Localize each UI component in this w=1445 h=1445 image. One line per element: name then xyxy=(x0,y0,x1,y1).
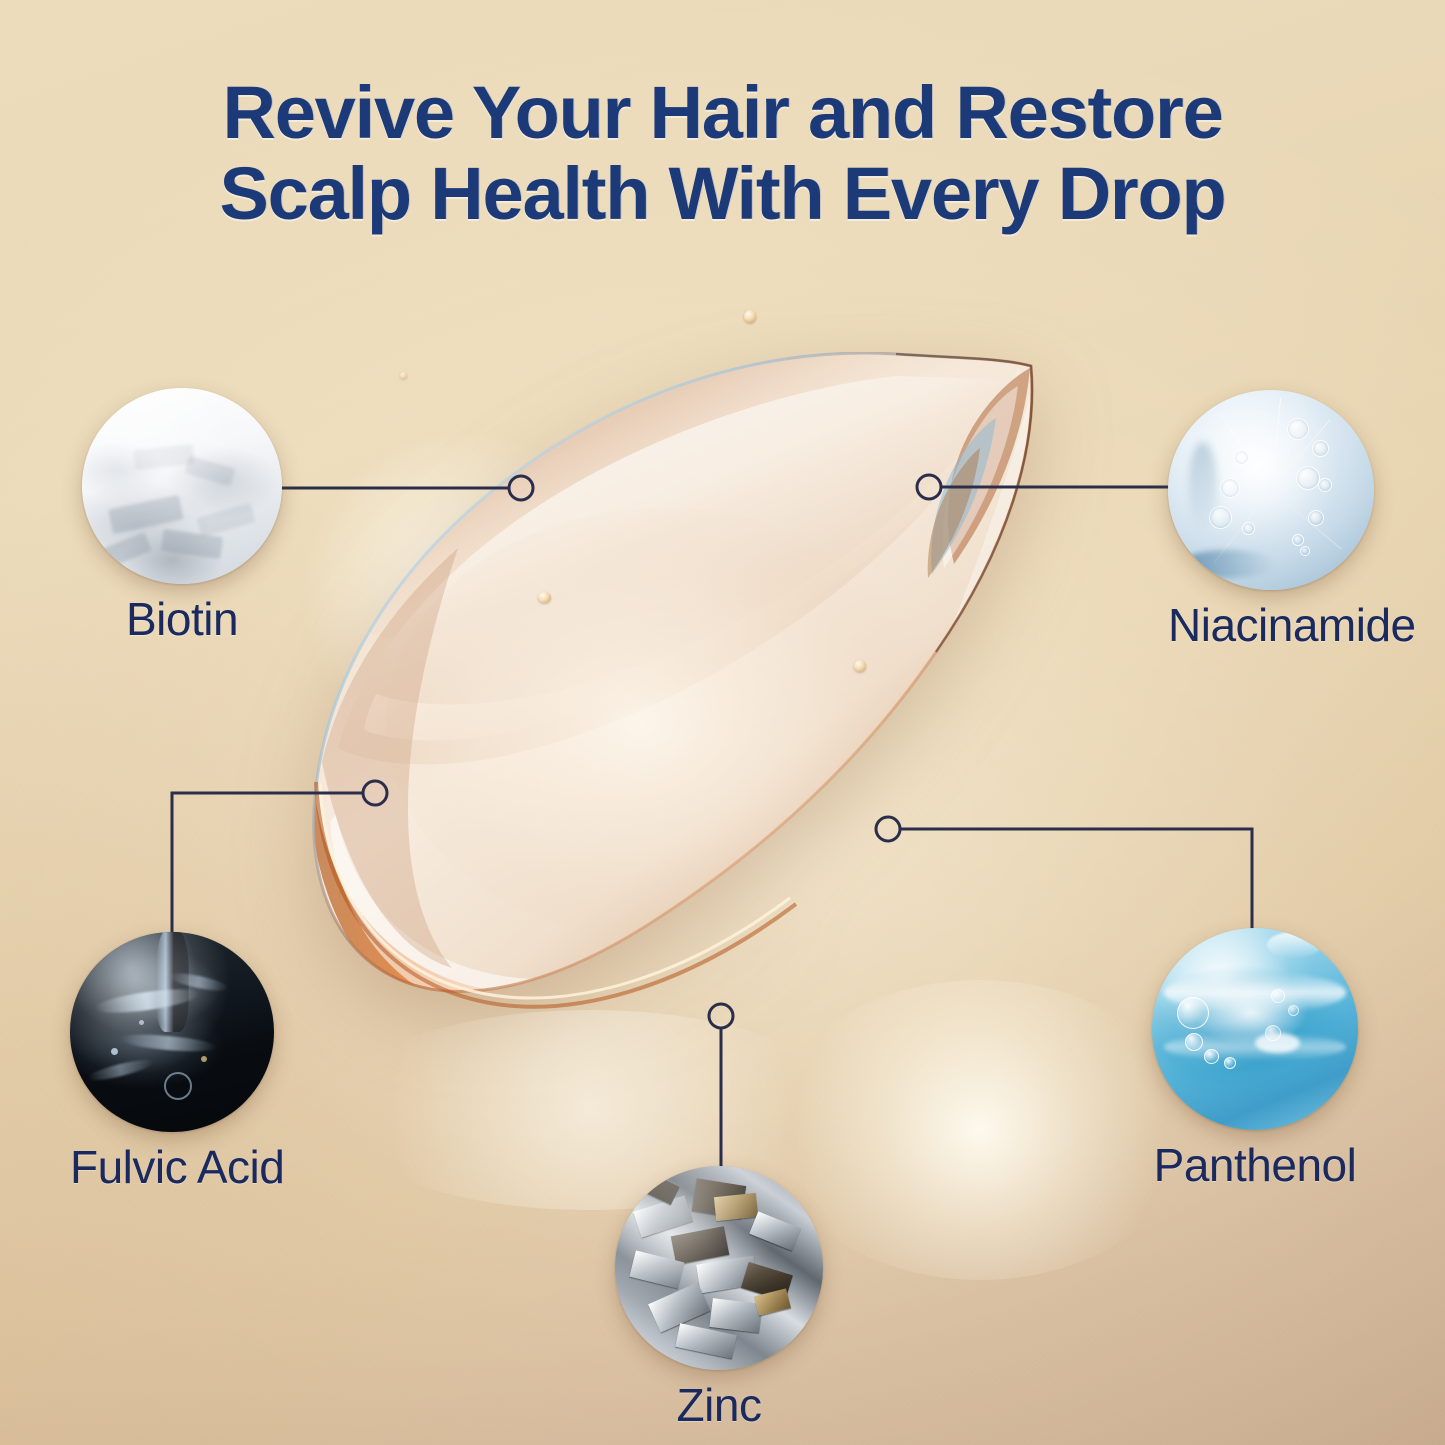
panthenol-label: Panthenol xyxy=(1152,1138,1358,1192)
micro-droplet xyxy=(400,372,407,379)
serum-droplet-image xyxy=(296,352,1086,1127)
zinc-label: Zinc xyxy=(615,1378,823,1432)
headline-line-1: Revive Your Hair and Restore xyxy=(60,72,1385,153)
headline-line-2: Scalp Health With Every Drop xyxy=(60,153,1385,234)
ingredient-panthenol[interactable]: Panthenol xyxy=(1152,928,1358,1192)
ingredient-fulvic-acid[interactable]: Fulvic Acid xyxy=(70,932,274,1194)
ingredient-zinc[interactable]: Zinc xyxy=(615,1166,823,1432)
micro-droplet xyxy=(744,310,756,323)
ingredient-niacinamide[interactable]: Niacinamide xyxy=(1168,390,1374,652)
micro-droplet xyxy=(854,660,866,672)
infographic-canvas: Revive Your Hair and Restore Scalp Healt… xyxy=(0,0,1445,1445)
page-title: Revive Your Hair and Restore Scalp Healt… xyxy=(0,72,1445,235)
fulvic-acid-swatch-icon xyxy=(70,932,274,1132)
zinc-swatch-icon xyxy=(615,1166,823,1370)
ingredient-biotin[interactable]: Biotin xyxy=(82,388,282,646)
biotin-swatch-icon xyxy=(82,388,282,584)
fulvic-acid-label: Fulvic Acid xyxy=(70,1140,274,1194)
niacinamide-swatch-icon xyxy=(1168,390,1374,590)
panthenol-swatch-icon xyxy=(1152,928,1358,1130)
niacinamide-label: Niacinamide xyxy=(1168,598,1374,652)
micro-droplet xyxy=(538,592,551,603)
biotin-label: Biotin xyxy=(82,592,282,646)
